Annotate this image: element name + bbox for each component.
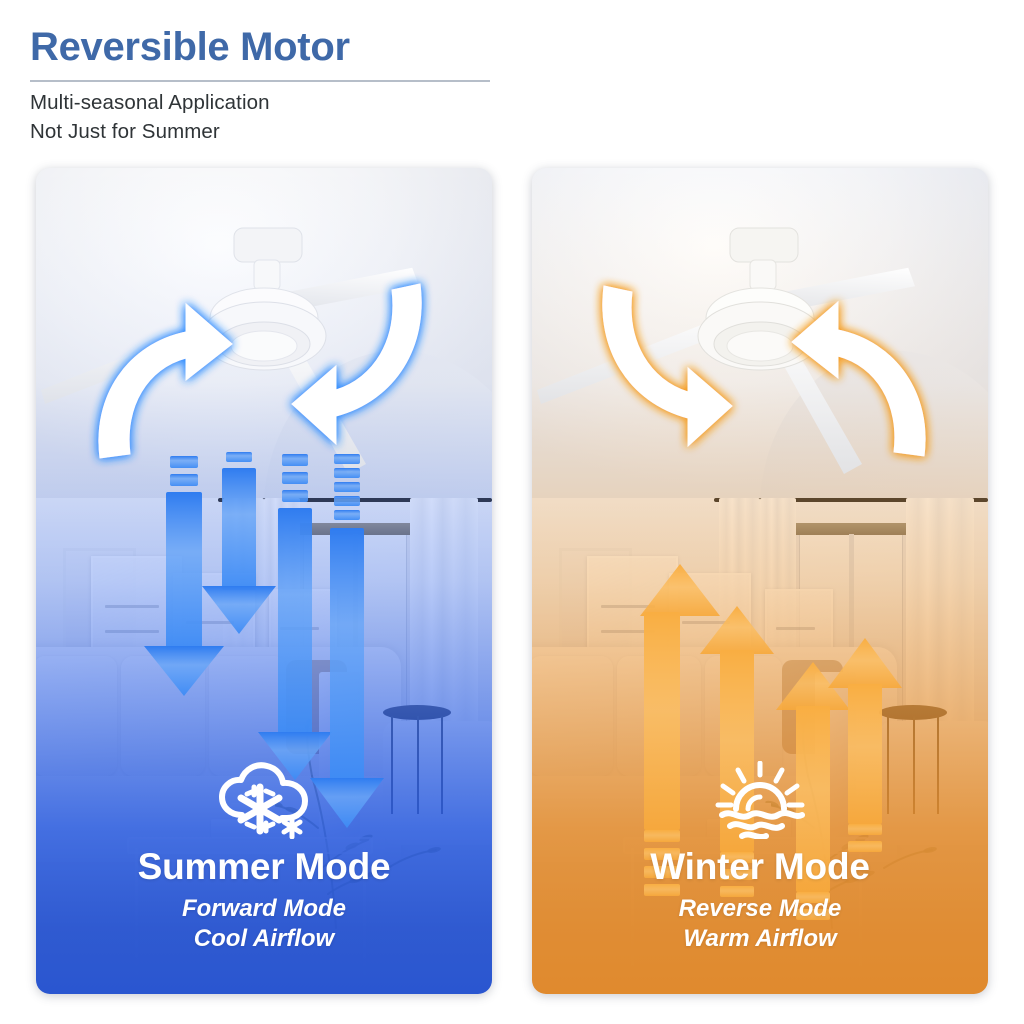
snow-cloud-icon <box>216 761 312 839</box>
subtitle-line-2: Not Just for Summer <box>30 117 500 146</box>
panel-winter-mode[interactable]: Winter Mode Reverse Mode Warm Airflow <box>532 168 988 994</box>
mode-sub-summer-1: Forward Mode <box>36 894 492 924</box>
header: Reversible Motor Multi-seasonal Applicat… <box>30 24 500 146</box>
title-divider <box>30 80 490 82</box>
panel-summer-mode[interactable]: Summer Mode Forward Mode Cool Airflow <box>36 168 492 994</box>
mode-title-winter: Winter Mode <box>532 847 988 888</box>
mode-sub-winter-2: Warm Airflow <box>532 924 988 954</box>
mode-sub-summer-2: Cool Airflow <box>36 924 492 954</box>
caption-winter: Winter Mode Reverse Mode Warm Airflow <box>532 761 988 954</box>
mode-sub-winter-1: Reverse Mode <box>532 894 988 924</box>
subtitle-line-1: Multi-seasonal Application <box>30 88 500 117</box>
mode-title-summer: Summer Mode <box>36 847 492 888</box>
page-title: Reversible Motor <box>30 24 500 70</box>
sunrise-icon <box>712 761 808 839</box>
caption-summer: Summer Mode Forward Mode Cool Airflow <box>36 761 492 954</box>
